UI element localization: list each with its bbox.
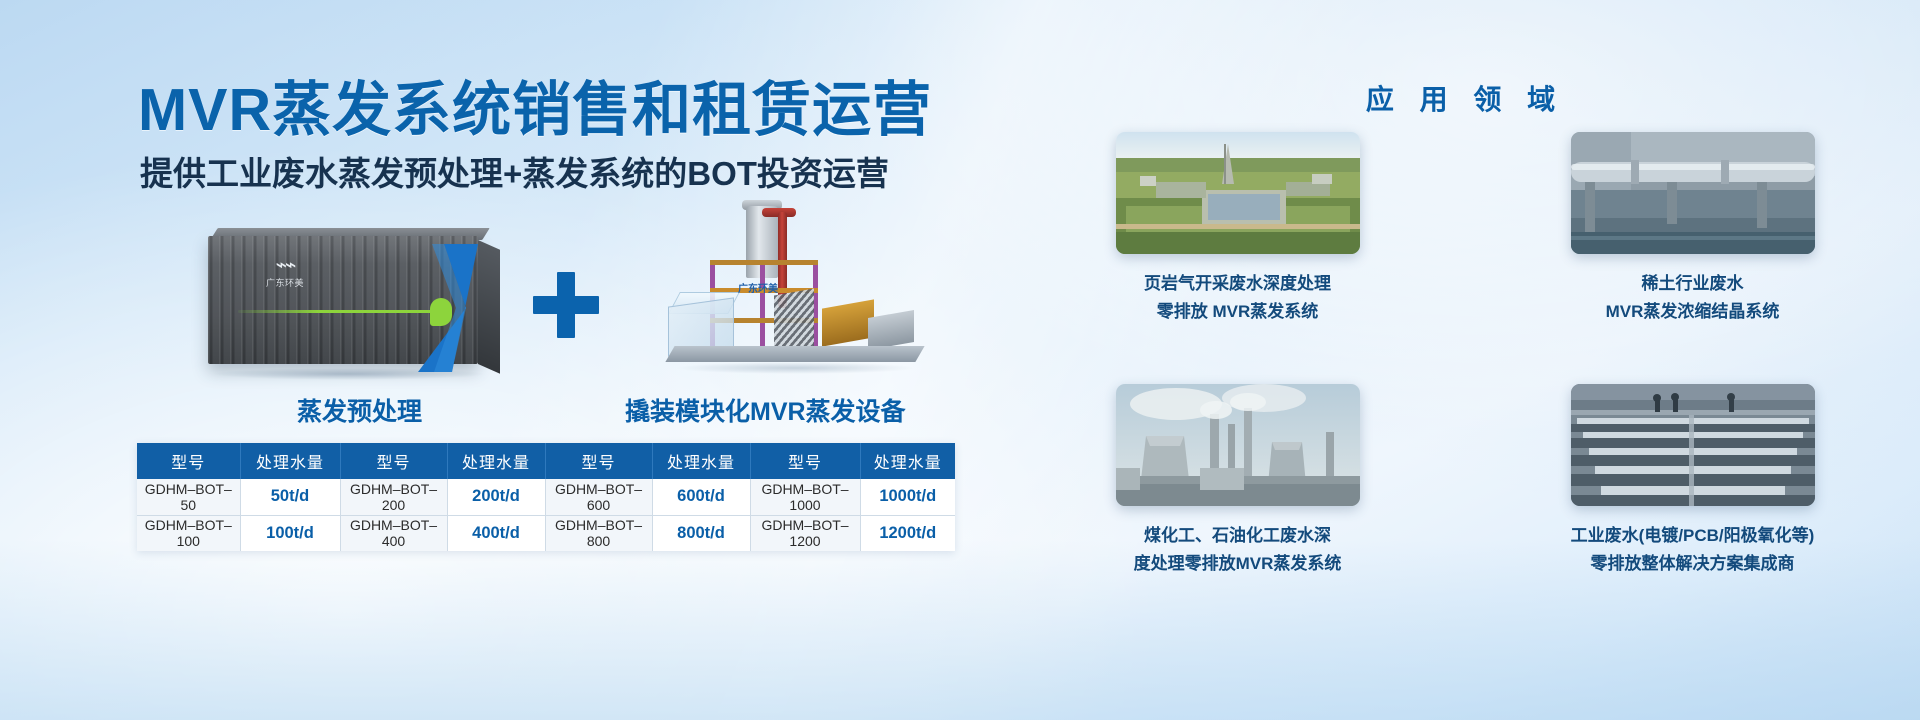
application-caption-2: 稀土行业废水 MVR蒸发浓缩结晶系统 xyxy=(1543,270,1843,325)
applications-panel: 应 用 领 域 xyxy=(1010,0,1920,720)
brand-mark-icon: ⌁⌁ xyxy=(266,254,304,278)
col-header-flow-1: 处理水量 xyxy=(240,443,340,479)
container-side-panel xyxy=(478,240,500,374)
blue-accent-shape xyxy=(418,244,478,372)
col-header-flow-4: 处理水量 xyxy=(860,443,955,479)
col-header-model-4: 型号 xyxy=(750,443,860,479)
product-label-right: 撬装模块化MVR蒸发设备 xyxy=(625,392,906,428)
coal-chemical-plant-photo xyxy=(1116,384,1360,506)
accent-line xyxy=(238,310,438,313)
product-image-evaporation-pretreatment: ⌁⌁ 广东环美 xyxy=(200,228,510,398)
pump-module xyxy=(868,310,914,350)
cell-flow: 600t/d xyxy=(652,479,750,515)
left-panel: MVR蒸发系统销售和租赁运营 提供工业废水蒸发预处理+蒸发系统的BOT投资运营 … xyxy=(0,0,1010,720)
brand-logo: ⌁⌁ 广东环美 xyxy=(266,254,304,289)
skid-base xyxy=(665,346,924,362)
cell-model: GDHM–BOT–1000 xyxy=(750,479,860,515)
application-card-3: 煤化工、石油化工废水深 度处理零排放MVR蒸发系统 xyxy=(1010,384,1465,636)
shale-gas-field-photo xyxy=(1116,132,1360,254)
cell-flow: 400t/d xyxy=(447,515,545,551)
col-header-model-1: 型号 xyxy=(137,443,240,479)
plus-icon xyxy=(533,272,599,338)
col-header-flow-2: 处理水量 xyxy=(447,443,545,479)
cell-model: GDHM–BOT–400 xyxy=(340,515,447,551)
application-caption-1: 页岩气开采废水深度处理 零排放 MVR蒸发系统 xyxy=(1088,270,1388,325)
cell-flow: 1200t/d xyxy=(860,515,955,551)
cell-model: GDHM–BOT–200 xyxy=(340,479,447,515)
application-card-4: 工业废水(电镀/PCB/阳极氧化等) 零排放整体解决方案集成商 xyxy=(1465,384,1920,636)
rare-earth-pipeline-photo xyxy=(1571,132,1815,254)
application-card-2: 稀土行业废水 MVR蒸发浓缩结晶系统 xyxy=(1465,132,1920,384)
cell-flow: 100t/d xyxy=(240,515,340,551)
application-card-1: 页岩气开采废水深度处理 零排放 MVR蒸发系统 xyxy=(1010,132,1465,384)
cell-model: GDHM–BOT–600 xyxy=(545,479,652,515)
col-header-flow-3: 处理水量 xyxy=(652,443,750,479)
control-cabinet xyxy=(822,299,874,346)
applications-title: 应 用 领 域 xyxy=(1010,78,1920,118)
table-row: GDHM–BOT–50 50t/d GDHM–BOT–200 200t/d GD… xyxy=(137,479,955,515)
col-header-model-2: 型号 xyxy=(340,443,447,479)
skid-shadow xyxy=(675,362,915,374)
cell-flow: 800t/d xyxy=(652,515,750,551)
product-image-skid-mvr: 广东环美 xyxy=(650,196,950,396)
cell-model: GDHM–BOT–100 xyxy=(137,515,240,551)
col-header-model-3: 型号 xyxy=(545,443,652,479)
cell-model: GDHM–BOT–800 xyxy=(545,515,652,551)
cell-flow: 200t/d xyxy=(447,479,545,515)
cell-model: GDHM–BOT–1200 xyxy=(750,515,860,551)
marketing-banner: MVR蒸发系统销售和租赁运营 提供工业废水蒸发预处理+蒸发系统的BOT投资运营 … xyxy=(0,0,1920,720)
table-row: GDHM–BOT–100 100t/d GDHM–BOT–400 400t/d … xyxy=(137,515,955,551)
page-subtitle: 提供工业废水蒸发预处理+蒸发系统的BOT投资运营 xyxy=(140,147,889,195)
applications-grid: 页岩气开采废水深度处理 零排放 MVR蒸发系统 xyxy=(1010,132,1920,636)
page-title: MVR蒸发系统销售和租赁运营 xyxy=(138,62,932,147)
industrial-wastewater-tanks-photo xyxy=(1571,384,1815,506)
brand-name: 广东环美 xyxy=(266,278,304,289)
table-header-row: 型号 处理水量 型号 处理水量 型号 处理水量 型号 处理水量 xyxy=(137,443,955,479)
product-label-left: 蒸发预处理 xyxy=(297,392,422,428)
container-body: ⌁⌁ 广东环美 xyxy=(208,236,478,364)
application-caption-4: 工业废水(电镀/PCB/阳极氧化等) 零排放整体解决方案集成商 xyxy=(1543,522,1843,577)
spec-table: 型号 处理水量 型号 处理水量 型号 处理水量 型号 处理水量 GDHM–BOT… xyxy=(137,443,955,551)
application-caption-3: 煤化工、石油化工废水深 度处理零排放MVR蒸发系统 xyxy=(1088,522,1388,577)
skid-brand-name: 广东环美 xyxy=(738,280,778,295)
cell-flow: 1000t/d xyxy=(860,479,955,515)
cell-model: GDHM–BOT–50 xyxy=(137,479,240,515)
cell-flow: 50t/d xyxy=(240,479,340,515)
